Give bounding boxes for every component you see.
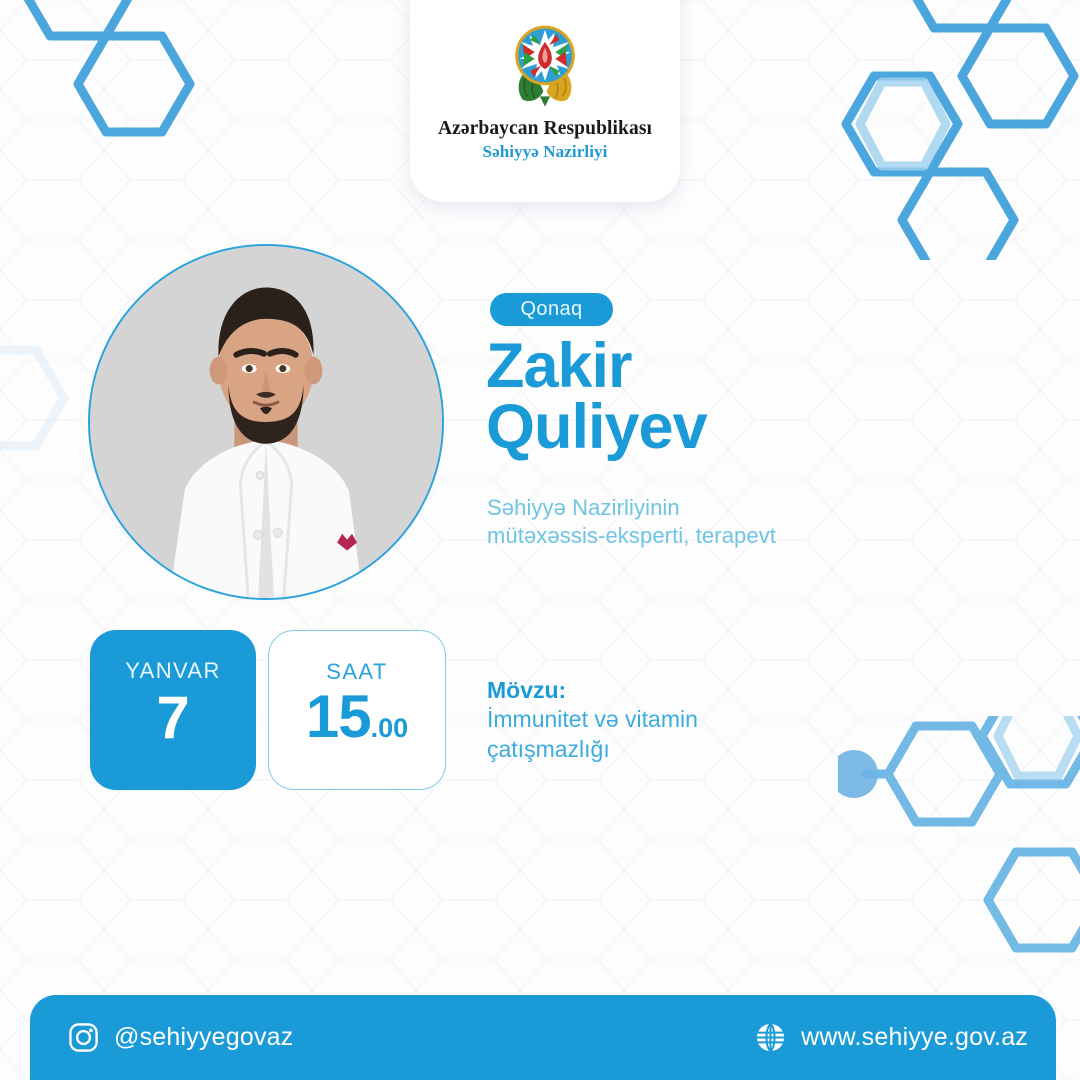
ministry-name-line2: Səhiyyə Nazirliyi xyxy=(483,142,608,162)
topic-block: Mövzu: İmmunitet və vitamin çatışmazlığı xyxy=(487,676,817,764)
speaker-role: Səhiyyə Nazirliyinin mütəxəssis-eksperti… xyxy=(487,494,927,550)
instagram-link[interactable]: @sehiyyegovaz xyxy=(68,1022,293,1053)
date-card: YANVAR 7 xyxy=(90,630,256,790)
time-minutes: .00 xyxy=(371,715,409,747)
instagram-icon xyxy=(68,1022,99,1053)
speaker-last-name: Quliyev xyxy=(486,397,1006,458)
speaker-name: Zakir Quliyev xyxy=(486,336,1006,458)
time-label: SAAT xyxy=(326,659,387,685)
website-url: www.sehiyye.gov.az xyxy=(801,1023,1028,1052)
time-value: 15 .00 xyxy=(306,687,408,747)
website-link[interactable]: www.sehiyye.gov.az xyxy=(755,1022,1028,1053)
poster-canvas: Azərbaycan Respublikası Səhiyyə Nazirliy… xyxy=(0,0,1080,1080)
ministry-name-line1: Azərbaycan Respublikası xyxy=(438,118,652,139)
time-card: SAAT 15 .00 xyxy=(268,630,446,790)
topic-label: Mövzu: xyxy=(487,676,817,704)
instagram-handle: @sehiyyegovaz xyxy=(114,1023,293,1052)
speaker-first-name: Zakir xyxy=(486,336,1006,397)
topic-line2: çatışmazlığı xyxy=(487,735,817,764)
time-hour: 15 xyxy=(306,687,371,747)
topic-line1: İmmunitet və vitamin xyxy=(487,705,817,734)
speaker-role-line1: Səhiyyə Nazirliyinin xyxy=(487,494,927,522)
ministry-logo-card: Azərbaycan Respublikası Səhiyyə Nazirliy… xyxy=(410,0,680,202)
globe-icon xyxy=(755,1022,786,1053)
speaker-role-line2: mütəxəssis-eksperti, terapevt xyxy=(487,522,927,550)
speaker-portrait xyxy=(88,244,444,600)
azerbaijan-coat-of-arms-icon xyxy=(502,18,588,110)
guest-badge: Qonaq xyxy=(490,293,613,326)
date-day: 7 xyxy=(156,688,189,748)
footer-bar: @sehiyyegovaz www.sehiyye.gov.az xyxy=(30,995,1056,1080)
date-month: YANVAR xyxy=(125,658,221,684)
